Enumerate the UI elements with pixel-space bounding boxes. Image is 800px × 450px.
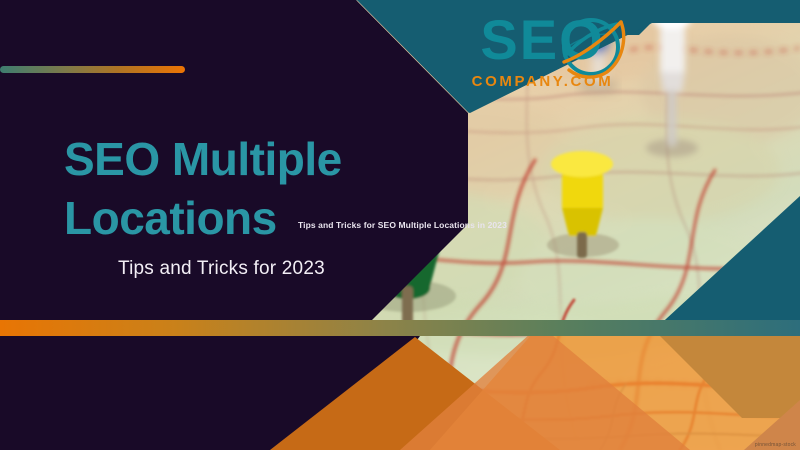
bottom-accent-bar (0, 320, 800, 336)
title-line-1: SEO Multiple (64, 130, 394, 189)
overlay-caption: Tips and Tricks for SEO Multiple Locatio… (298, 220, 507, 230)
top-accent-bar (0, 66, 185, 73)
seo-company-logo[interactable]: SEO COMPANY.COM (455, 12, 630, 100)
page-title: SEO Multiple Locations (64, 130, 394, 248)
title-line-2: Locations (64, 189, 394, 248)
slide-canvas: SEO Multiple Locations Tips and Tricks f… (0, 0, 800, 450)
page-subtitle: Tips and Tricks for 2023 (118, 258, 325, 280)
photo-watermark: pinnedmap-stock (755, 442, 796, 448)
logo-secondary-text: COMPANY.COM (455, 74, 630, 89)
